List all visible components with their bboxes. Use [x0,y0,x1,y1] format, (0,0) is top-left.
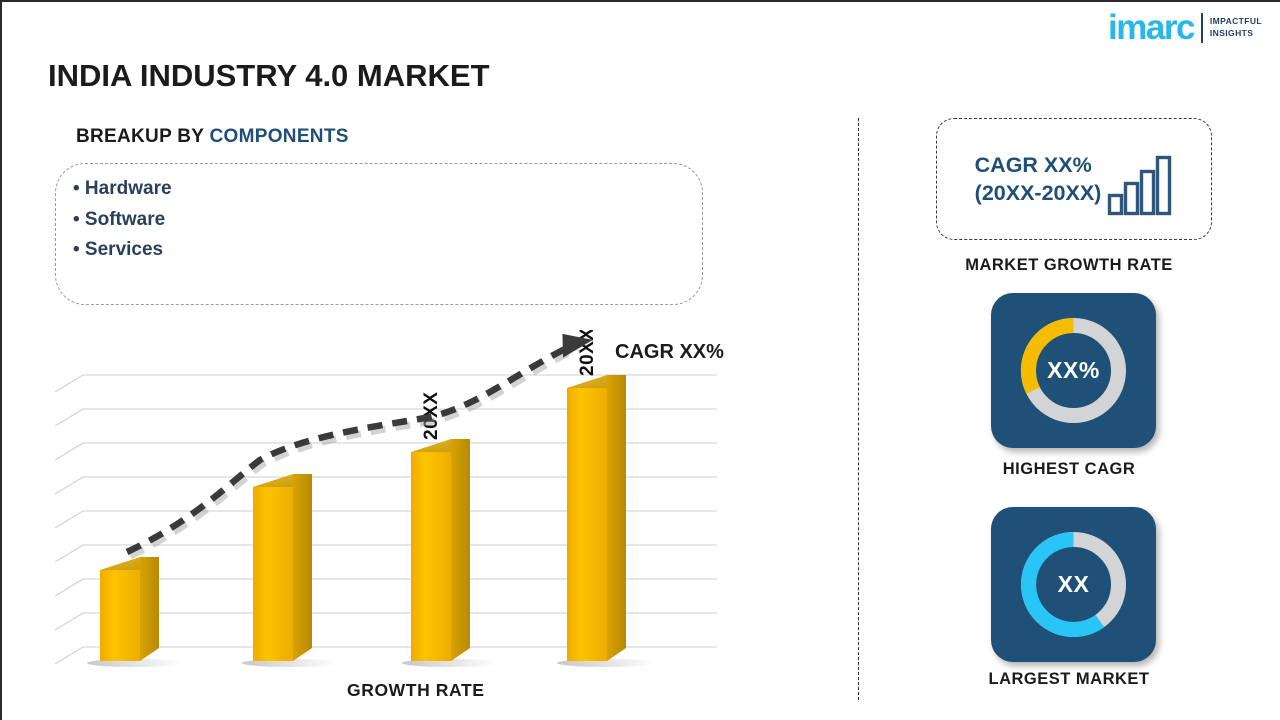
highest-cagr-value: XX% [991,357,1156,384]
growth-bar-chart: 20XX 20XX [55,330,755,675]
bar-chart-icon [1107,154,1173,221]
list-item: • Hardware [73,174,172,205]
highest-cagr-label: HIGHEST CAGR [858,460,1280,479]
page-title: INDIA INDUSTRY 4.0 MARKET [48,58,490,94]
chart-bar [100,557,159,661]
list-item: • Services [73,235,172,266]
list-item: • Software [73,205,172,236]
cagr-line-2: (20XX-20XX) [975,179,1102,207]
largest-market-label: LARGEST MARKET [858,670,1280,689]
trend-line [127,333,593,556]
cagr-text: CAGR XX% (20XX-20XX) [975,151,1102,207]
chart-x-axis-label: GROWTH RATE [347,680,485,701]
components-list: • Hardware • Software • Services [73,174,172,266]
subtitle-prefix: BREAKUP BY [76,126,210,147]
chart-bar: 20XX [411,392,470,661]
slide-left-border [0,0,2,720]
market-growth-rate-card: CAGR XX% (20XX-20XX) [936,118,1212,240]
chart-bar [253,474,312,661]
section-subtitle: BREAKUP BY COMPONENTS [76,126,349,148]
right-panel: CAGR XX% (20XX-20XX) MARKET GROWTH RATE … [858,0,1280,720]
svg-text:20XX: 20XX [577,330,598,376]
chart-bar: 20XX [567,330,626,661]
cagr-line-1: CAGR XX% [975,151,1102,179]
largest-market-value: XX [991,571,1156,598]
market-growth-rate-label: MARKET GROWTH RATE [858,256,1280,275]
largest-market-tile: XX [991,507,1156,662]
subtitle-accent: COMPONENTS [210,126,349,147]
highest-cagr-tile: XX% [991,293,1156,448]
chart-cagr-label: CAGR XX% [615,341,724,364]
